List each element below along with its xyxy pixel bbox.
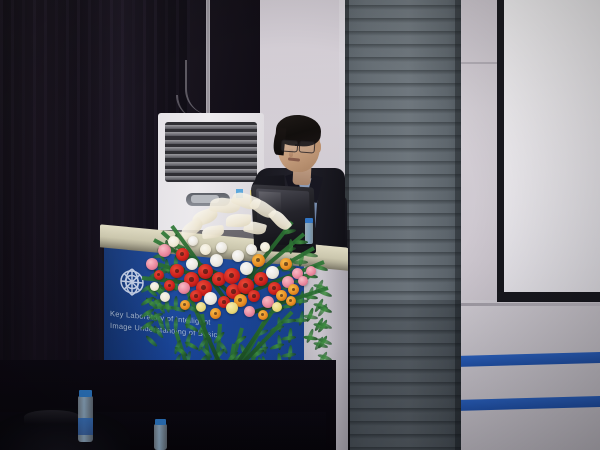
flower-center (222, 300, 226, 304)
water-bottle-cap (155, 419, 166, 425)
foliage-leaflet (317, 289, 332, 298)
flower-blossom (186, 258, 198, 270)
audience-head-highlight (24, 410, 80, 424)
flower-blossom (266, 266, 279, 279)
water-bottle-cap (79, 390, 92, 397)
flower-blossom (244, 306, 255, 317)
column-slat (345, 122, 461, 127)
flower-blossom (246, 244, 257, 255)
flower-blossom (260, 242, 270, 252)
column-slat (345, 31, 461, 36)
flower-blossom (188, 236, 198, 246)
flower-blossom (168, 236, 179, 247)
flower-blossom (158, 244, 171, 257)
flower-blossom (306, 266, 316, 276)
flower-blossom (226, 302, 238, 314)
column-slat (345, 252, 461, 257)
column-slat (345, 70, 461, 75)
flower-blossom (178, 282, 190, 294)
foliage-leaflet (145, 334, 159, 347)
foliage-leaflet (281, 335, 296, 341)
ac-vent-grille (165, 122, 257, 182)
conference-photo-scene: Key Laboratory of Intelligent Image Unde… (0, 0, 600, 450)
flower-center (284, 262, 288, 266)
eyeglasses-lens-right-icon (299, 140, 316, 153)
flower-blossom (272, 302, 282, 312)
flower-blossom (160, 292, 170, 302)
flower-center (214, 312, 217, 315)
column-slat (345, 135, 461, 140)
column-slat (345, 291, 461, 296)
floral-bouquet (140, 192, 355, 382)
column-lower-shadow (345, 300, 461, 450)
lily-flower (201, 225, 224, 239)
ac-vane (165, 154, 257, 158)
column-slat (345, 174, 461, 179)
flower-blossom (200, 244, 211, 255)
flower-blossom (204, 292, 217, 305)
foliage-leaflet (303, 335, 318, 341)
water-bottle[interactable] (154, 424, 167, 450)
foliage-leaflet (293, 240, 308, 245)
column-slat (345, 161, 461, 166)
flower-blossom (216, 242, 227, 253)
ac-vane (165, 169, 257, 173)
ac-vane (165, 132, 257, 136)
flower-blossom (150, 282, 159, 291)
ac-vane (165, 162, 257, 166)
ac-vane (165, 147, 257, 151)
flower-center (259, 277, 263, 281)
flower-blossom (146, 258, 158, 270)
column-slat (345, 96, 461, 101)
column-slat (345, 148, 461, 153)
column-slat (345, 57, 461, 62)
flower-center (217, 277, 221, 281)
foliage-leaflet (184, 322, 199, 333)
water-bottle-label (78, 418, 93, 435)
flower-center (252, 294, 256, 298)
flower-blossom (196, 302, 206, 312)
eyeglasses-bridge-icon (295, 144, 300, 146)
flower-center (189, 277, 194, 282)
projection-screen-bottom-bar (497, 292, 600, 301)
flower-center (194, 294, 198, 298)
flower-blossom (298, 276, 308, 286)
flower-center (280, 294, 283, 297)
foliage-leaflet (281, 352, 296, 358)
column-slat (345, 5, 461, 10)
wall-seam-line (440, 303, 600, 306)
column-slat (345, 18, 461, 23)
column-slat (345, 265, 461, 270)
foliage-leaflet (303, 252, 318, 258)
column-slat (345, 109, 461, 114)
column-slat (345, 200, 461, 205)
column-slat (345, 83, 461, 88)
foliage-leaflet (173, 317, 178, 332)
foliage-leaflet (269, 342, 285, 350)
projection-screen (504, 0, 600, 294)
flower-blossom (210, 254, 223, 267)
flower-center (168, 284, 171, 287)
flower-center (231, 289, 236, 294)
flower-center (292, 288, 295, 291)
column-slat (345, 278, 461, 283)
eyeglasses-lens-left-icon (281, 139, 299, 152)
column-slat (345, 187, 461, 192)
column-slat (345, 44, 461, 49)
ac-vane (165, 176, 257, 180)
flower-center (203, 269, 208, 274)
column-slat (345, 239, 461, 244)
flower-center (175, 269, 179, 273)
column-slat (345, 226, 461, 231)
ac-vane (165, 125, 257, 129)
ac-vane (165, 140, 257, 144)
flower-blossom (240, 262, 253, 275)
lily-flower (226, 214, 251, 228)
column-slat (345, 213, 461, 218)
flower-blossom (232, 250, 244, 262)
